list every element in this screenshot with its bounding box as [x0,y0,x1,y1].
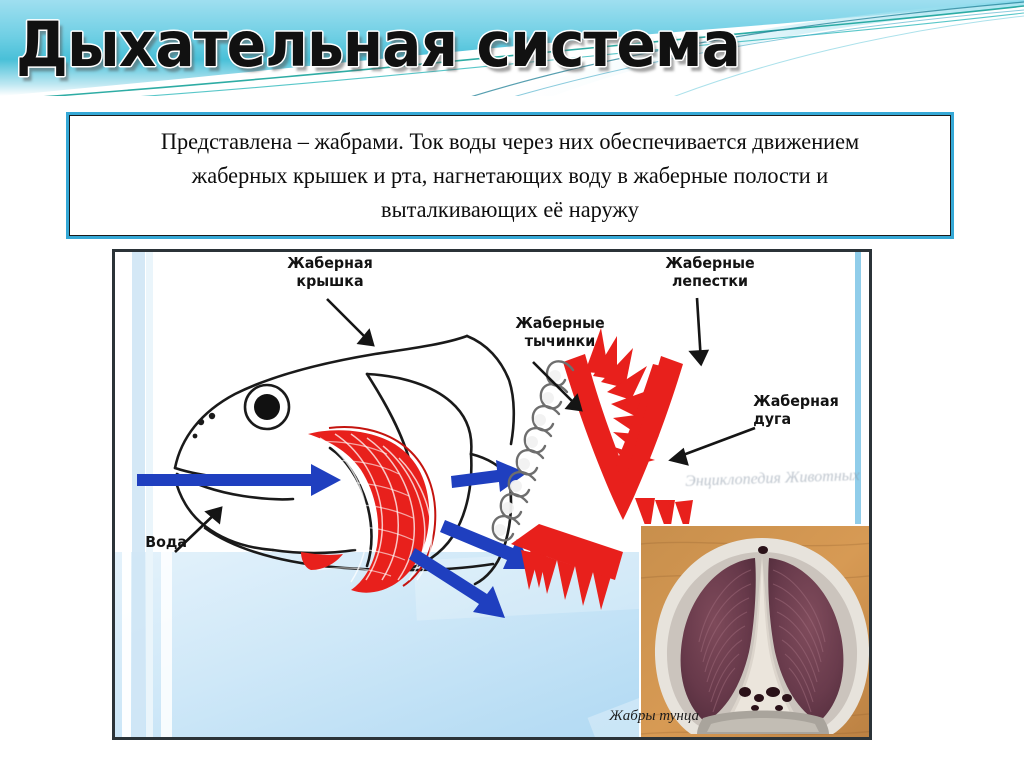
description-textbox: Представлена – жабрами. Ток воды через н… [66,112,954,239]
photo-caption: Жабры тунца [609,708,699,725]
label-gill-filaments: Жаберные лепестки [648,254,772,290]
page-title: Дыхательная система [16,10,740,80]
slide-header-banner: Дыхательная система [0,0,1024,96]
label-gill-rakers: Жаберные тычинки [498,314,622,350]
gill-illustration-frame: Энциклопедия Животных [112,249,872,740]
label-water: Вода [145,533,231,551]
label-gill-arch: Жаберная дуга [753,392,872,428]
description-text: Представлена – жабрами. Ток воды через н… [91,125,929,227]
slide: Дыхательная система Представлена – жабра… [0,0,1024,767]
label-operculum: Жаберная крышка [264,254,397,290]
